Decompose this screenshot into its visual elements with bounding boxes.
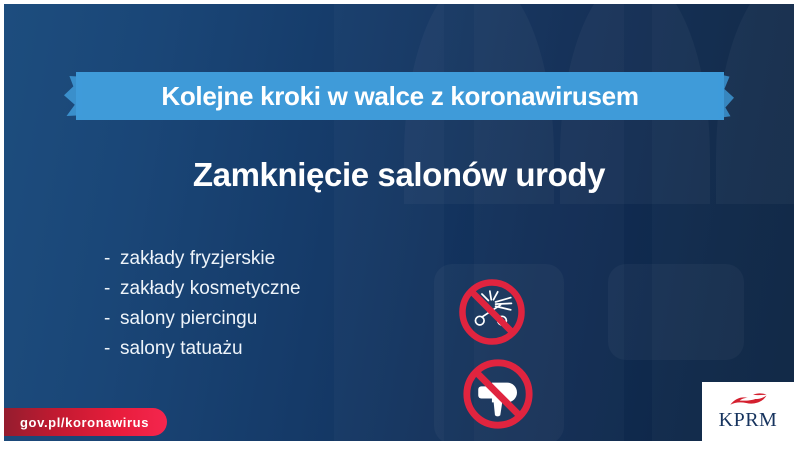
list-dash: - bbox=[104, 304, 120, 334]
list-item: -salony tatuażu bbox=[104, 334, 301, 364]
list-item: -salony piercingu bbox=[104, 304, 301, 334]
kprm-logo-text: KPRM bbox=[719, 410, 778, 431]
list-dash: - bbox=[104, 274, 120, 304]
background-decoration bbox=[4, 4, 794, 441]
prohibition-icon-group bbox=[456, 276, 540, 432]
list-item-label: zakłady kosmetyczne bbox=[120, 278, 301, 299]
kprm-logo: KPRM bbox=[702, 382, 794, 441]
infographic-poster: Kolejne kroki w walce z koronawirusem Za… bbox=[0, 0, 800, 450]
no-scissors-icon bbox=[456, 276, 528, 348]
list-dash: - bbox=[104, 334, 120, 364]
closure-list: -zakłady fryzjerskie -zakłady kosmetyczn… bbox=[104, 244, 301, 364]
list-item: -zakłady kosmetyczne bbox=[104, 274, 301, 304]
polish-flag-eagle-mark bbox=[727, 392, 769, 409]
gov-url-label: gov.pl/koronawirus bbox=[20, 415, 149, 430]
background-panel bbox=[608, 264, 744, 360]
no-hairdryer-icon bbox=[460, 356, 536, 432]
poster-canvas: Kolejne kroki w walce z koronawirusem Za… bbox=[4, 4, 794, 441]
header-banner: Kolejne kroki w walce z koronawirusem bbox=[76, 72, 724, 120]
list-item: -zakłady fryzjerskie bbox=[104, 244, 301, 274]
list-item-label: salony piercingu bbox=[120, 308, 257, 329]
header-banner-label: Kolejne kroki w walce z koronawirusem bbox=[76, 72, 724, 120]
list-dash: - bbox=[104, 244, 120, 274]
list-item-label: salony tatuażu bbox=[120, 338, 243, 359]
page-title: Zamknięcie salonów urody bbox=[4, 156, 794, 194]
gov-url-badge[interactable]: gov.pl/koronawirus bbox=[4, 408, 167, 436]
list-item-label: zakłady fryzjerskie bbox=[120, 248, 275, 269]
